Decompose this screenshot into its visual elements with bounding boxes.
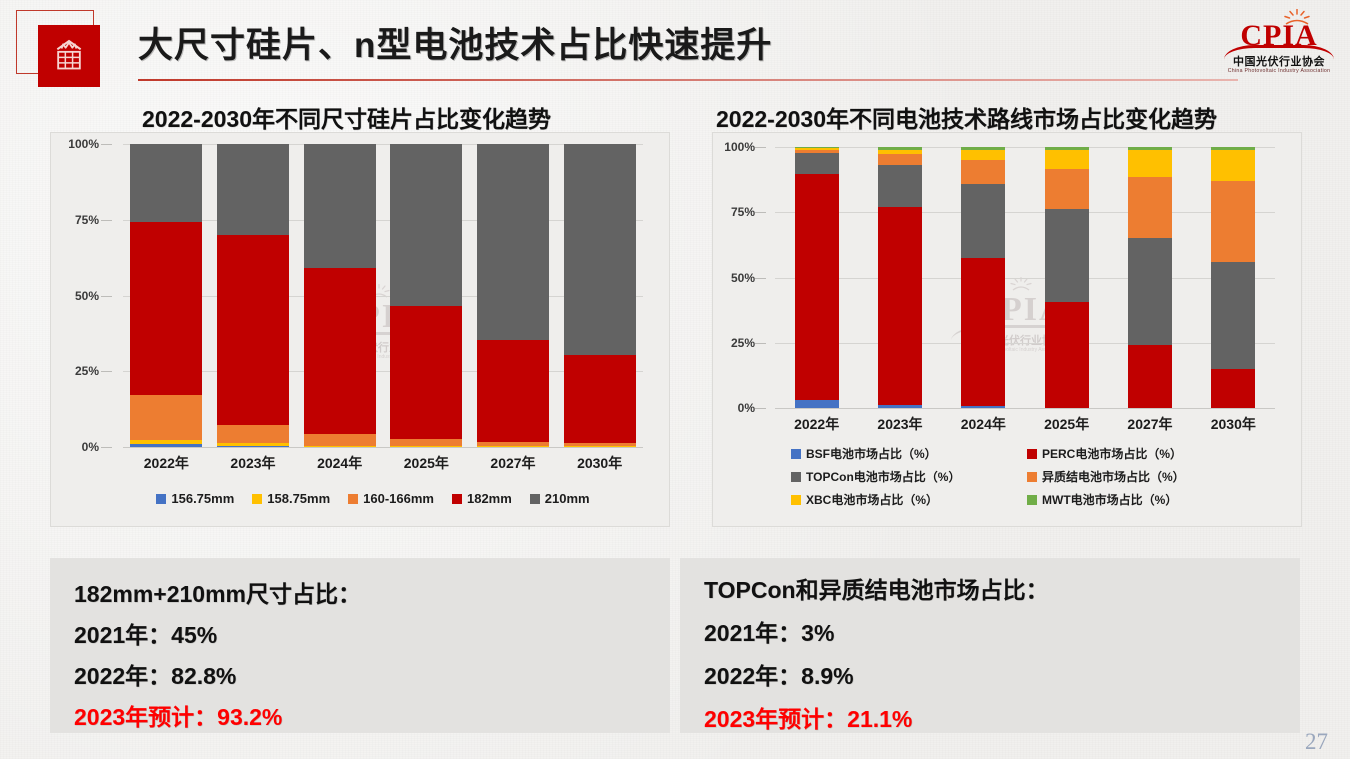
legend-item[interactable]: 160-166mm [348,491,434,506]
right-chart-title: 2022-2030年不同电池技术路线市场占比变化趋势 [716,100,1217,134]
legend-swatch [252,494,262,504]
bar-segment[interactable] [961,147,1005,150]
legend-swatch [452,494,462,504]
bar-column[interactable] [1211,147,1255,408]
legend-label: 158.75mm [267,491,330,506]
gridline [775,278,1275,279]
bar-segment[interactable] [795,174,839,400]
right-note-line-2: 2022年：8.9% [704,657,854,691]
bar-segment[interactable] [564,144,636,355]
left-chart-legend: 156.75mm158.75mm160-166mm182mm210mm [103,491,643,506]
bar-segment[interactable] [878,154,922,164]
axis-baseline [123,447,643,448]
bar-column[interactable] [217,144,289,447]
bar-segment[interactable] [1211,262,1255,369]
cpia-name-cn: 中国光伏行业协会 [1220,53,1338,69]
page-title: 大尺寸硅片、n型电池技术占比快速提升 [138,17,772,68]
left-y-axis: 0%25%50%75%100% [51,144,113,447]
y-axis-tick-label: 25% [731,336,755,350]
bar-segment[interactable] [1045,302,1089,408]
x-axis-tick-label: 2030年 [556,453,643,473]
bar-segment[interactable] [1211,147,1255,150]
bar-segment[interactable] [878,165,922,207]
bar-segment[interactable] [961,184,1005,258]
bar-segment[interactable] [795,148,839,150]
bar-segment[interactable] [217,144,289,235]
left-note-line-1: 2021年：45% [74,616,217,650]
right-chart-legend: BSF电池市场占比（%）PERC电池市场占比（%）TOPCon电池市场占比（%）… [791,445,1261,508]
bar-segment[interactable] [1128,238,1172,345]
bar-segment[interactable] [795,400,839,408]
bar-segment[interactable] [961,160,1005,183]
bar-segment[interactable] [390,306,462,439]
solar-panel-icon [38,25,100,87]
bar-segment[interactable] [564,355,636,444]
x-axis-tick-label: 2027年 [470,453,557,473]
legend-item[interactable]: 210mm [530,491,590,506]
y-axis-tick-mark [755,408,766,409]
bar-segment[interactable] [217,443,289,446]
gridline [775,343,1275,344]
right-note-line-1: 2021年：3% [704,614,834,648]
y-axis-tick-mark [755,278,766,279]
bar-segment[interactable] [961,258,1005,406]
y-axis-tick-label: 75% [75,213,99,227]
left-note-box: 182mm+210mm尺寸占比： 2021年：45% 2022年：82.8% 2… [50,558,670,733]
bar-segment[interactable] [564,446,636,447]
bar-segment[interactable] [1045,209,1089,301]
bar-segment[interactable] [217,446,289,447]
legend-label: XBC电池市场占比（%） [806,491,938,508]
x-axis-tick-label: 2022年 [123,453,210,473]
x-axis-tick-label: 2023年 [210,453,297,473]
bar-segment[interactable] [477,144,549,340]
legend-item[interactable]: TOPCon电池市场占比（%） [791,468,1023,485]
bar-segment[interactable] [878,147,922,150]
gridline [775,212,1275,213]
bar-segment[interactable] [130,222,202,395]
y-axis-tick-label: 50% [731,271,755,285]
x-axis-tick-label: 2027年 [1108,414,1191,434]
legend-label: 182mm [467,491,512,506]
bar-column[interactable] [961,147,1005,408]
legend-swatch [791,472,801,482]
legend-item[interactable]: 182mm [452,491,512,506]
y-axis-tick-label: 25% [75,364,99,378]
bar-segment[interactable] [477,446,549,447]
y-axis-tick-mark [101,220,112,221]
bar-segment[interactable] [1128,345,1172,408]
bar-segment[interactable] [878,405,922,408]
legend-item[interactable]: 异质结电池市场占比（%） [1027,468,1259,485]
bar-segment[interactable] [130,444,202,447]
left-note-highlight: 2023年预计：93.2% [74,698,282,732]
right-chart-panel: 2022-2030年不同电池技术路线市场占比变化趋势 CPIA 中国光伏行业协会 [690,95,1310,535]
legend-item[interactable]: XBC电池市场占比（%） [791,491,1023,508]
bar-segment[interactable] [1128,177,1172,238]
bar-column[interactable] [795,147,839,408]
bar-column[interactable] [878,147,922,408]
legend-item[interactable]: 158.75mm [252,491,330,506]
watermark-sun-icon [1007,277,1035,291]
x-axis-tick-label: 2030年 [1192,414,1275,434]
bar-segment[interactable] [878,150,922,155]
legend-label: 156.75mm [171,491,234,506]
bar-segment[interactable] [477,442,549,447]
right-note-box: TOPCon和异质结电池市场占比： 2021年：3% 2022年：8.9% 20… [680,558,1300,733]
legend-swatch [348,494,358,504]
cpia-name-en: China Photovoltaic Industry Association [1220,68,1338,74]
bar-segment[interactable] [878,207,922,405]
header-divider [138,79,1238,81]
right-plot-area: CPIA 中国光伏行业协会 China Photovoltaic Industr… [775,147,1275,408]
legend-label: MWT电池市场占比（%） [1042,491,1177,508]
left-chart-panel: 2022-2030年不同尺寸硅片占比变化趋势 CPIA 中国光伏行业协会 [50,95,670,535]
legend-label: TOPCon电池市场占比（%） [806,468,960,485]
legend-swatch [1027,449,1037,459]
bar-segment[interactable] [390,144,462,306]
left-note-heading: 182mm+210mm尺寸占比： [74,575,361,609]
bar-column[interactable] [564,144,636,447]
y-axis-tick-label: 100% [68,137,99,151]
left-chart-title: 2022-2030年不同尺寸硅片占比变化趋势 [142,100,551,134]
y-axis-tick-mark [101,371,112,372]
bar-segment[interactable] [1045,150,1089,170]
bar-segment[interactable] [304,446,376,448]
right-x-axis: 2022年2023年2024年2025年2027年2030年 [775,414,1275,436]
legend-item[interactable]: BSF电池市场占比（%） [791,445,1023,462]
bar-segment[interactable] [795,153,839,174]
left-x-axis: 2022年2023年2024年2025年2027年2030年 [123,453,643,477]
bar-segment[interactable] [390,439,462,447]
bar-segment[interactable] [1045,169,1089,209]
x-axis-tick-label: 2022年 [775,414,858,434]
legend-swatch [1027,495,1037,505]
legend-label: 210mm [545,491,590,506]
bar-column[interactable] [1045,147,1089,408]
bar-segment[interactable] [1211,181,1255,262]
bar-segment[interactable] [130,395,202,440]
bar-segment[interactable] [304,434,376,445]
bar-segment[interactable] [217,425,289,443]
x-axis-tick-label: 2024年 [296,453,383,473]
legend-label: PERC电池市场占比（%） [1042,445,1182,462]
bar-segment[interactable] [130,440,202,444]
left-chart-box: CPIA 中国光伏行业协会 China Photovoltaic Industr… [50,132,670,527]
bar-segment[interactable] [795,150,839,153]
y-axis-tick-label: 0% [738,401,755,415]
bar-segment[interactable] [1211,369,1255,408]
bar-segment[interactable] [390,446,462,447]
y-axis-tick-label: 100% [724,140,755,154]
slide-header: 大尺寸硅片、n型电池技术占比快速提升 CPIA 中国光伏行业协会 China P… [0,0,1350,92]
bar-segment[interactable] [795,147,839,148]
bar-segment[interactable] [1128,147,1172,150]
bar-segment[interactable] [130,144,202,222]
y-axis-tick-mark [755,147,766,148]
legend-label: 异质结电池市场占比（%） [1042,468,1185,485]
bar-segment[interactable] [1128,150,1172,178]
y-axis-tick-mark [101,447,112,448]
page-number: 27 [1305,729,1328,755]
legend-item[interactable]: MWT电池市场占比（%） [1027,491,1259,508]
y-axis-tick-label: 50% [75,289,99,303]
x-axis-tick-label: 2024年 [942,414,1025,434]
bar-column[interactable] [130,144,202,447]
bar-column[interactable] [1128,147,1172,408]
y-axis-tick-mark [101,296,112,297]
right-chart-box: CPIA 中国光伏行业协会 China Photovoltaic Industr… [712,132,1302,527]
bar-segment[interactable] [304,268,376,435]
legend-item[interactable]: 156.75mm [156,491,234,506]
legend-swatch [791,495,801,505]
bar-column[interactable] [390,144,462,447]
legend-item[interactable]: PERC电池市场占比（%） [1027,445,1259,462]
legend-label: 160-166mm [363,491,434,506]
bar-segment[interactable] [961,406,1005,408]
bar-column[interactable] [304,144,376,447]
legend-label: BSF电池市场占比（%） [806,445,937,462]
legend-swatch [156,494,166,504]
cpia-logo: CPIA 中国光伏行业协会 China Photovoltaic Industr… [1220,6,1338,84]
y-axis-tick-mark [101,144,112,145]
x-axis-tick-label: 2025年 [1025,414,1108,434]
bar-segment[interactable] [961,150,1005,160]
y-axis-tick-label: 75% [731,205,755,219]
left-note-line-2: 2022年：82.8% [74,657,236,691]
legend-swatch [791,449,801,459]
bar-segment[interactable] [1211,150,1255,181]
right-note-heading: TOPCon和异质结电池市场占比： [704,571,1049,605]
bar-segment[interactable] [304,144,376,268]
right-note-highlight: 2023年预计：21.1% [704,700,912,734]
bar-column[interactable] [477,144,549,447]
left-plot-area: CPIA 中国光伏行业协会 China Photovoltaic Industr… [123,144,643,447]
bar-segment[interactable] [477,340,549,442]
bar-segment[interactable] [1045,147,1089,150]
legend-swatch [1027,472,1037,482]
x-axis-tick-label: 2023年 [858,414,941,434]
x-axis-tick-label: 2025年 [383,453,470,473]
legend-swatch [530,494,540,504]
gridline [775,147,1275,148]
y-axis-tick-mark [755,343,766,344]
y-axis-tick-label: 0% [82,440,99,454]
y-axis-tick-mark [755,212,766,213]
bar-segment[interactable] [217,235,289,425]
bar-segment[interactable] [564,443,636,446]
axis-baseline [775,408,1275,409]
right-y-axis: 0%25%50%75%100% [713,147,767,408]
